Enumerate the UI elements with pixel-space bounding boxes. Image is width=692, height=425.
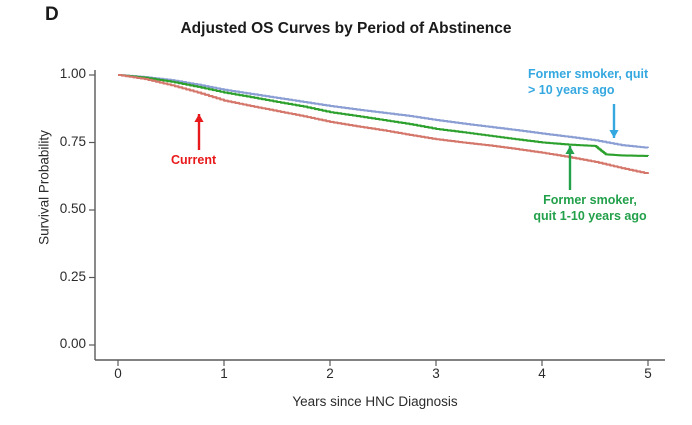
x-tick-label: 3 (416, 366, 456, 381)
annotation-former-1to10-line2: quit 1-10 years ago (510, 208, 670, 224)
y-tick-label: 0.25 (40, 269, 86, 284)
y-tick-label: 0.75 (40, 134, 86, 149)
annotation-current-line1: Current (171, 152, 216, 168)
x-axis-ticks (118, 360, 648, 366)
y-tick-label: 0.00 (40, 336, 86, 351)
annotation-former-1to10: Former smoker, quit 1-10 years ago (510, 192, 670, 224)
x-tick-label: 0 (98, 366, 138, 381)
annotation-current: Current (171, 152, 216, 168)
annotation-former-gt10-line2: > 10 years ago (528, 82, 648, 98)
arrow-former-gt10 (609, 104, 618, 138)
x-tick-label: 4 (522, 366, 562, 381)
y-tick-label: 0.50 (40, 201, 86, 216)
arrow-current (194, 114, 203, 150)
annotation-former-gt10-line1: Former smoker, quit (528, 66, 648, 82)
annotation-former-gt10: Former smoker, quit > 10 years ago (528, 66, 648, 98)
x-axis-label: Years since HNC Diagnosis (95, 394, 655, 409)
y-axis-ticks (89, 75, 95, 345)
x-tick-label: 2 (310, 366, 350, 381)
figure-panel-d: D Adjusted OS Curves by Period of Abstin… (0, 0, 692, 425)
x-tick-label: 1 (204, 366, 244, 381)
arrow-former-1to10 (565, 146, 574, 190)
chart-title: Adjusted OS Curves by Period of Abstinen… (0, 20, 692, 38)
annotation-former-1to10-line1: Former smoker, (510, 192, 670, 208)
y-tick-label: 1.00 (40, 66, 86, 81)
annotation-arrows (194, 104, 618, 190)
x-tick-label: 5 (628, 366, 668, 381)
